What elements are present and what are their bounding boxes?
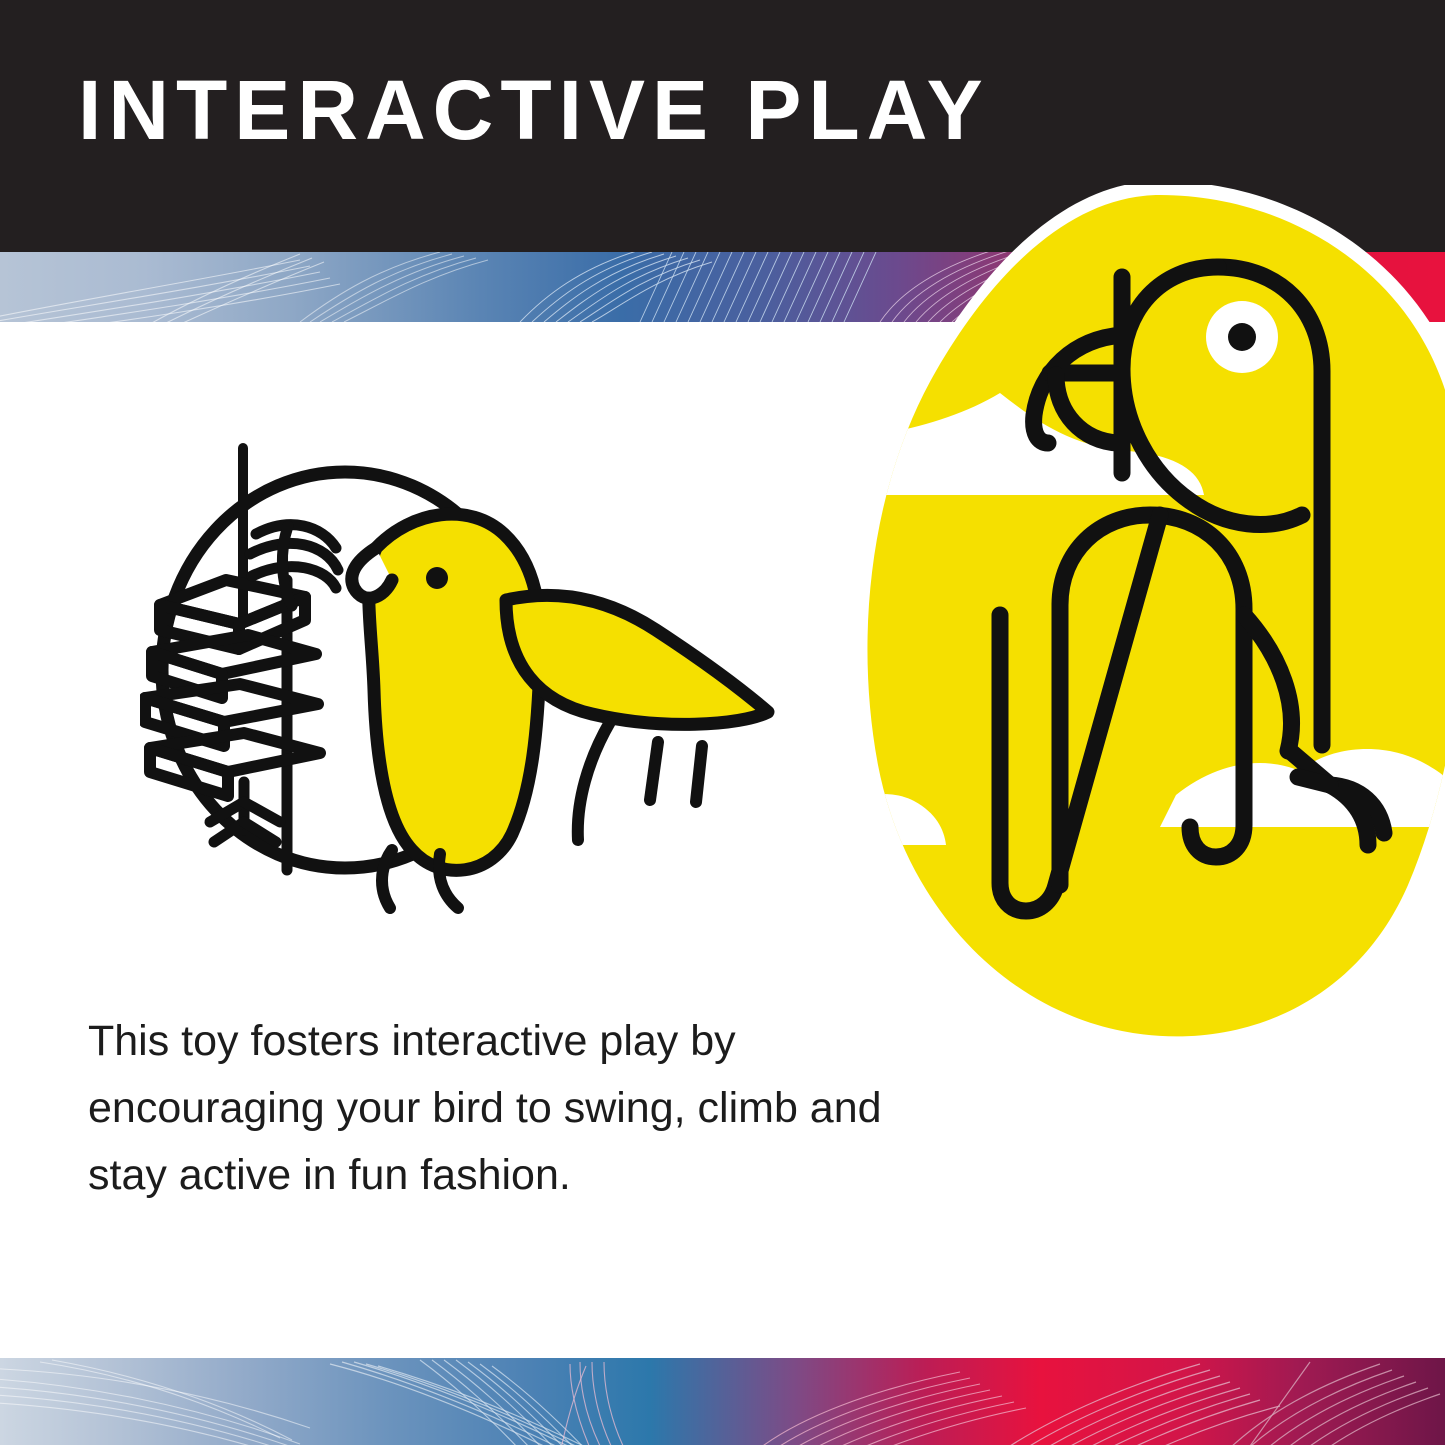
page-title: INTERACTIVE PLAY bbox=[78, 62, 990, 158]
product-feature-poster: INTERACTIVE PLAY bbox=[0, 0, 1445, 1445]
description-text: This toy fosters interactive play by enc… bbox=[88, 1008, 948, 1209]
bird-with-block-toy-icon bbox=[140, 430, 820, 950]
yellow-blob-background bbox=[867, 195, 1445, 1036]
bottom-feather-banner bbox=[0, 1358, 1445, 1445]
parrot-illustration bbox=[860, 185, 1445, 1055]
parrot-eye-pupil bbox=[1228, 323, 1256, 351]
bottom-banner-feather-texture bbox=[0, 1358, 1445, 1445]
